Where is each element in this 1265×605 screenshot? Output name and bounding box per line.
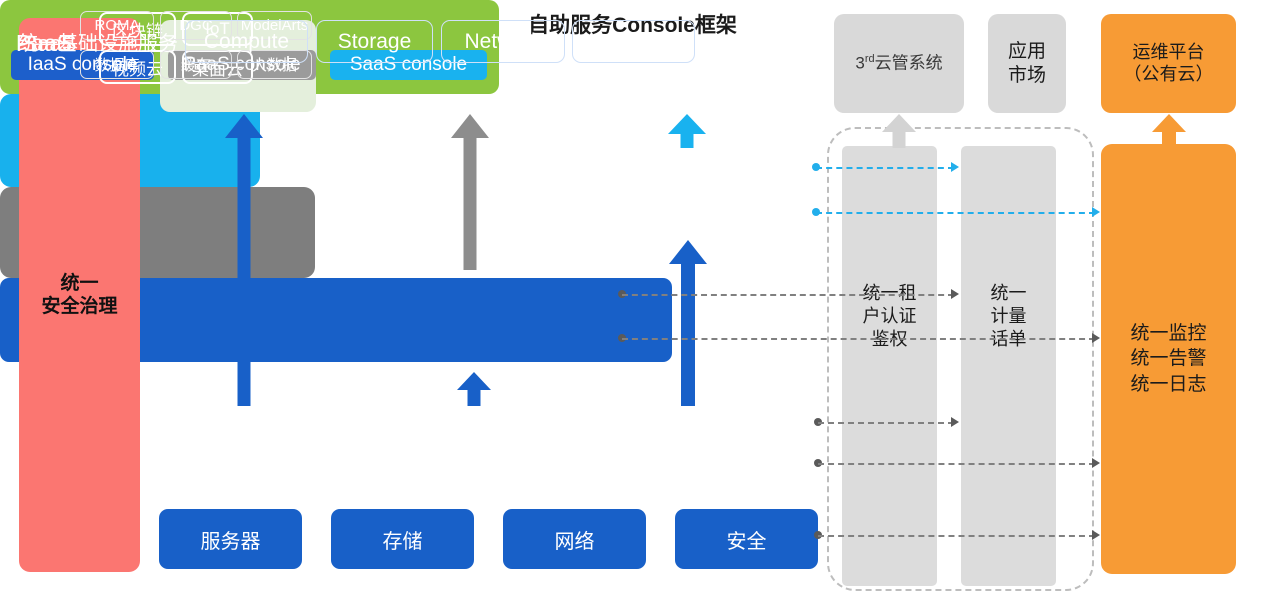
arrowhead-saas-to-metering [951,162,959,172]
ops-panel-line-3: 统一日志 [1130,372,1206,397]
infra-item-network[interactable]: Network [441,20,565,63]
third-party-label: 3rd云管系统 [855,53,942,74]
app-market-line-1: 应用 [1008,40,1046,63]
resource-server[interactable]: 服务器 [159,509,302,569]
resource-network[interactable]: 网络 [503,509,646,569]
arrow-infra-to-saas [669,240,707,406]
connector-paas-to-ops [622,338,1095,340]
connector-infra-to-metering [818,422,954,424]
ops-panel-line-1: 统一监控 [1130,321,1206,346]
arrowhead-infra-to-ops [1092,458,1100,468]
third-party-cloud-mgmt-box: 3rd云管系统 [834,14,964,113]
ops-platform-line-1: 运维平台 [1124,42,1214,64]
app-market-line-2: 市场 [1008,64,1046,87]
metering-line-2: 计量 [961,305,1056,328]
arrow-infra-to-paas [457,372,491,406]
arrowhead-paas-to-metering [951,289,959,299]
arrow-shared-to-third-party [882,114,916,148]
connector-saas-to-metering [816,167,954,169]
connector-paas-to-metering [622,294,954,296]
security-governance-panel: 统一 安全治理 [19,18,140,572]
arrow-ops-panel-to-ops-platform [1152,114,1186,148]
unified-auth-label: 统一租 户认证 鉴权 [842,282,937,351]
arrowhead-resources-to-ops [1092,530,1100,540]
ops-platform-box: 运维平台 （公有云） [1101,14,1236,113]
unified-metering-label: 统一 计量 话单 [961,282,1056,351]
infrastructure-label: 统一基础设施服务 [18,27,178,56]
connector-resources-to-ops [818,535,1095,537]
resource-security[interactable]: 安全 [675,509,818,569]
metering-line-1: 统一 [961,282,1056,305]
arrow-paas-to-console [451,114,489,270]
infra-item-compute[interactable]: Compute [185,20,308,63]
security-line-2: 安全治理 [41,295,117,318]
ops-panel-line-2: 统一告警 [1130,346,1206,371]
arrow-infra-to-api-gateway [225,114,263,406]
connector-infra-to-ops [818,463,1095,465]
arrowhead-paas-to-ops [1092,333,1100,343]
ops-platform-line-2: （公有云） [1124,64,1214,86]
infra-item-cce[interactable]: CCE [572,20,695,63]
architecture-diagram: 统一 安全治理 API网关 自助服务Console框架 IaaS console… [0,0,1265,605]
ops-monitoring-panel: 统一监控 统一告警 统一日志 [1101,144,1236,574]
arrowhead-saas-to-ops [1092,207,1100,217]
arrowhead-infra-to-metering [951,417,959,427]
infra-item-storage[interactable]: Storage [316,20,433,63]
resource-storage[interactable]: 存储 [331,509,474,569]
auth-line-2: 户认证 [842,305,937,328]
arrow-saas-to-console [668,114,706,148]
connector-saas-to-ops [816,212,1095,214]
app-market-box: 应用 市场 [988,14,1066,113]
security-line-1: 统一 [41,272,117,295]
